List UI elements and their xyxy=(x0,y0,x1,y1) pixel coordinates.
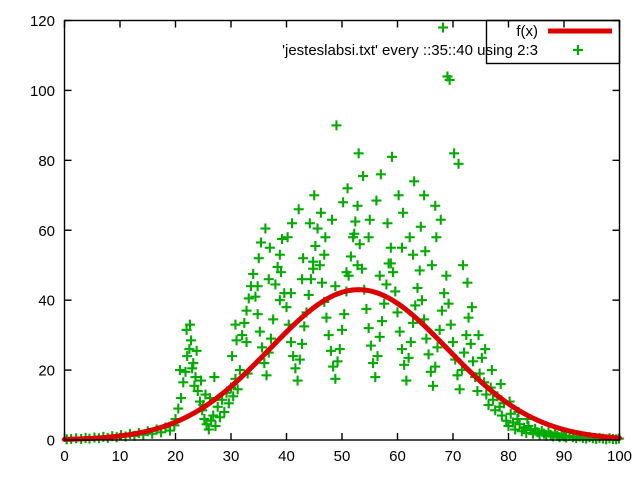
x-tick-label: 50 xyxy=(334,448,351,465)
x-tick-label: 60 xyxy=(389,448,406,465)
x-tick-label: 0 xyxy=(60,448,68,465)
y-tick-label: 120 xyxy=(30,13,55,30)
x-tick-label: 40 xyxy=(278,448,295,465)
y-tick-label: 80 xyxy=(38,153,55,170)
y-tick-label: 100 xyxy=(30,83,55,100)
chart-canvas: 020406080100120 0102030405060708090100 f… xyxy=(0,0,640,480)
legend-label-data: 'jesteslabsi.txt' every ::35::40 using 2… xyxy=(282,42,538,59)
x-tick-label: 20 xyxy=(167,448,184,465)
x-tick-label: 80 xyxy=(500,448,517,465)
y-tick-label: 20 xyxy=(38,363,55,380)
x-tick-label: 10 xyxy=(112,448,129,465)
y-tick-label: 40 xyxy=(38,293,55,310)
x-tick-label: 30 xyxy=(223,448,240,465)
chart-background xyxy=(0,0,640,480)
x-tick-label: 70 xyxy=(445,448,462,465)
x-tick-label: 90 xyxy=(556,448,573,465)
legend-label-fx: f(x) xyxy=(516,23,538,40)
gnuplot-chart: 020406080100120 0102030405060708090100 f… xyxy=(0,0,640,480)
y-tick-label: 0 xyxy=(47,433,55,450)
x-tick-label: 100 xyxy=(607,448,632,465)
y-tick-label: 60 xyxy=(38,223,55,240)
